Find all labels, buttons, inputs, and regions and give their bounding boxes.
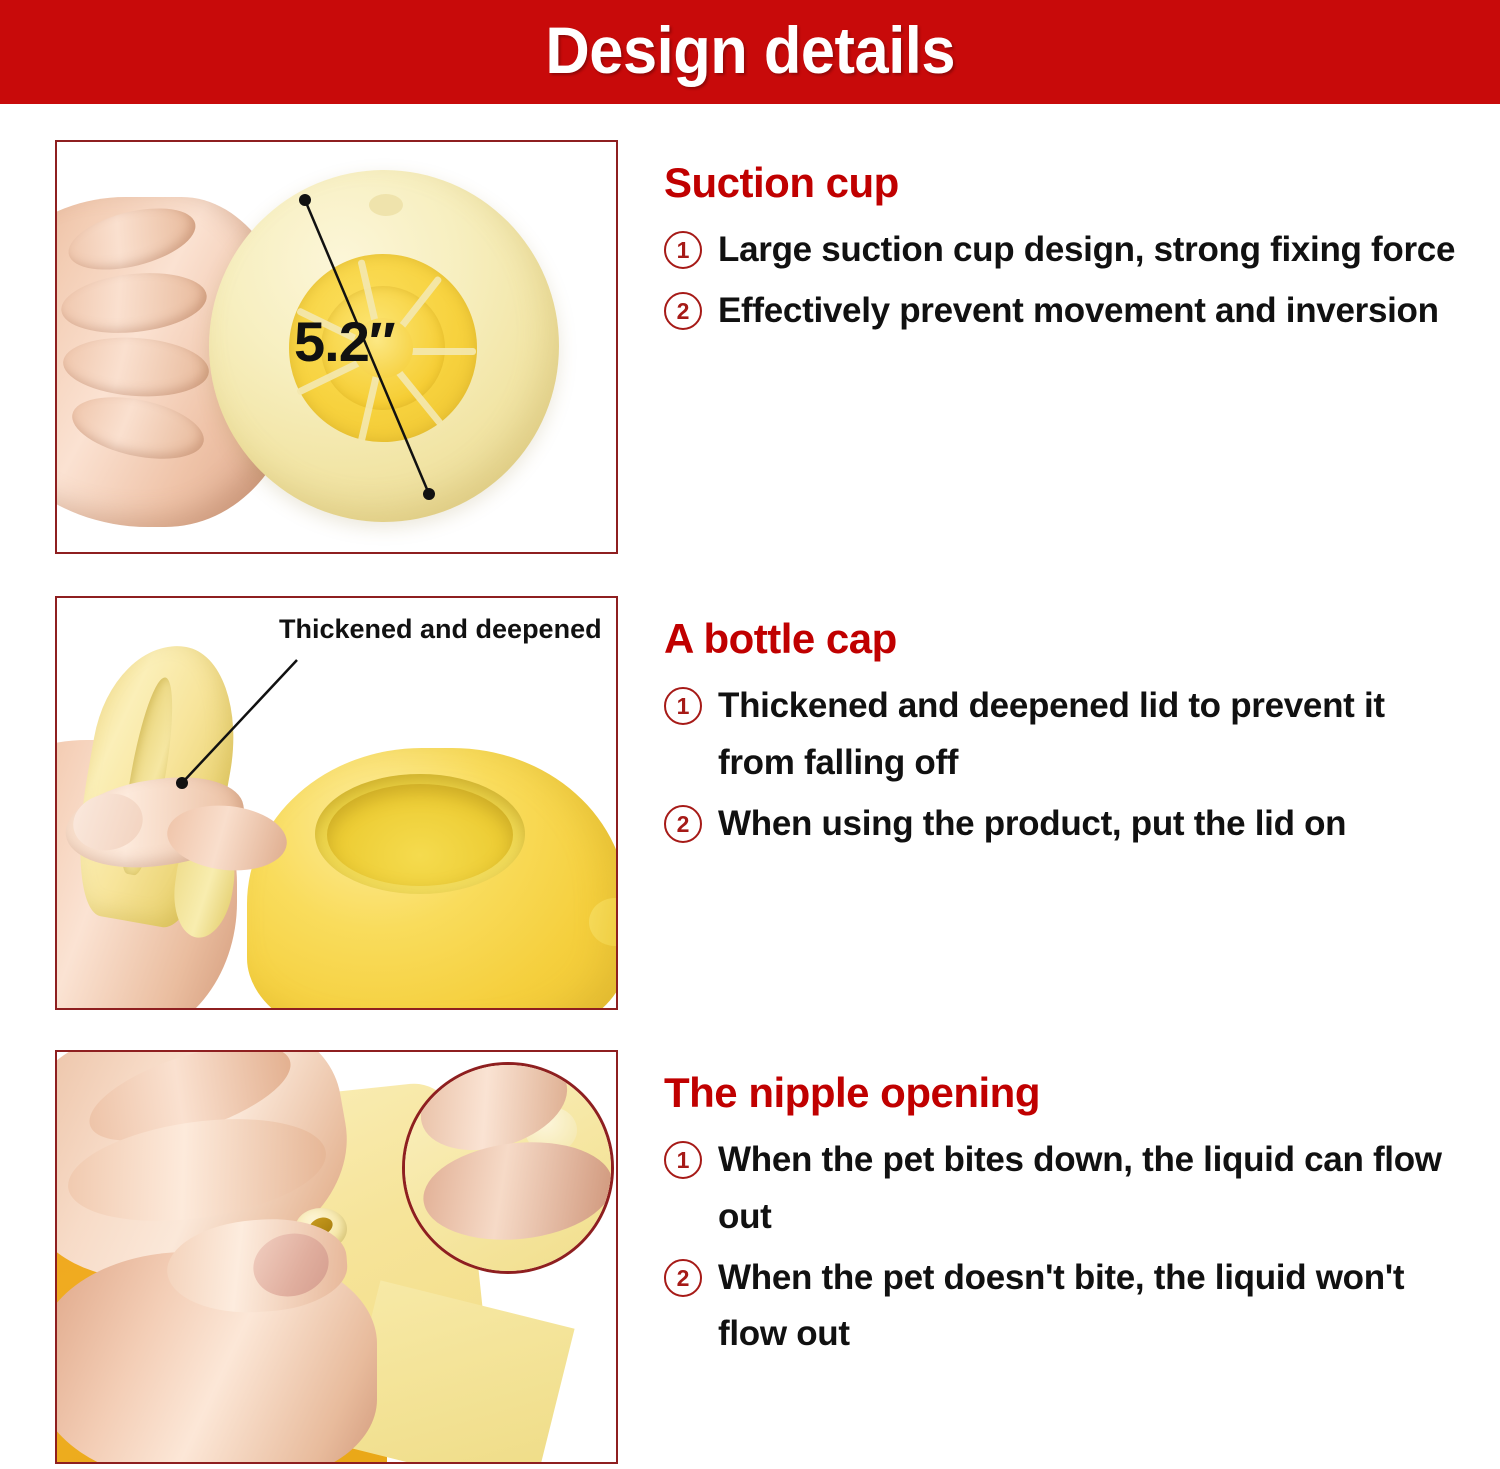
- bullet-number-icon: 2: [664, 292, 702, 330]
- section-nipple-opening: The nipple opening 1 When the pet bites …: [664, 1070, 1470, 1367]
- content-area: 5.2″ Thickened and deepened: [0, 104, 1500, 1469]
- section-suction-cup: Suction cup 1 Large suction cup design, …: [664, 160, 1470, 344]
- section-bottle-cap: A bottle cap 1 Thickened and deepened li…: [664, 616, 1470, 856]
- bullet-item: 1 When the pet bites down, the liquid ca…: [664, 1132, 1470, 1245]
- bullet-item: 1 Thickened and deepened lid to prevent …: [664, 678, 1470, 791]
- suction-cup-photo-panel: 5.2″: [55, 140, 618, 554]
- bullet-text: Effectively prevent movement and inversi…: [718, 283, 1439, 340]
- bullet-text: Large suction cup design, strong fixing …: [718, 222, 1455, 279]
- bullet-item: 2 When using the product, put the lid on: [664, 796, 1470, 853]
- bullet-item: 2 Effectively prevent movement and inver…: [664, 283, 1470, 340]
- section-heading: The nipple opening: [664, 1070, 1470, 1116]
- measurement-label: 5.2″: [294, 309, 395, 374]
- bullet-number-icon: 2: [664, 805, 702, 843]
- bullet-text: Thickened and deepened lid to prevent it…: [718, 678, 1470, 791]
- bullet-text: When the pet doesn't bite, the liquid wo…: [718, 1250, 1470, 1363]
- bullet-item: 1 Large suction cup design, strong fixin…: [664, 222, 1470, 279]
- bullet-number-icon: 2: [664, 1259, 702, 1297]
- bullet-number-icon: 1: [664, 231, 702, 269]
- section-heading: Suction cup: [664, 160, 1470, 206]
- callout-label: Thickened and deepened: [279, 614, 602, 645]
- nipple-opening-photo-panel: [55, 1050, 618, 1464]
- suction-cup-photo: 5.2″: [57, 142, 616, 552]
- bullet-number-icon: 1: [664, 687, 702, 725]
- page-title: Design details: [545, 17, 955, 87]
- bottle-cap-photo-panel: Thickened and deepened: [55, 596, 618, 1010]
- nipple-opening-photo: [57, 1052, 616, 1462]
- bullet-number-icon: 1: [664, 1141, 702, 1179]
- header-banner: Design details: [0, 0, 1500, 104]
- bullet-text: When the pet bites down, the liquid can …: [718, 1132, 1470, 1245]
- bullet-text: When using the product, put the lid on: [718, 796, 1346, 853]
- bullet-item: 2 When the pet doesn't bite, the liquid …: [664, 1250, 1470, 1363]
- magnified-inset: [402, 1062, 614, 1274]
- section-heading: A bottle cap: [664, 616, 1470, 662]
- bottle-cap-photo: Thickened and deepened: [57, 598, 616, 1008]
- callout-leader-line-icon: [57, 598, 616, 1008]
